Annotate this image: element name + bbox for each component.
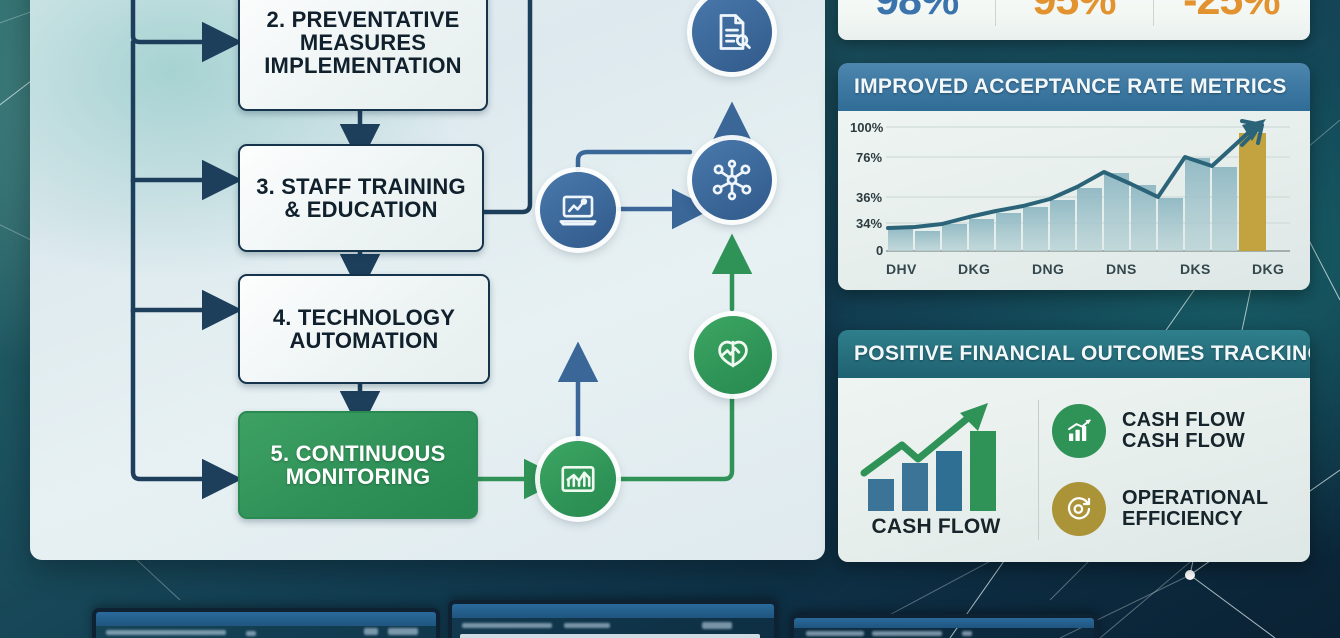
network-nodes-icon xyxy=(709,157,755,203)
financial-legend: CASH FLOW CASH FLOW xyxy=(1034,404,1310,536)
flow-box-line: IMPLEMENTATION xyxy=(264,54,462,77)
x-tick-label: DKS xyxy=(1180,261,1211,277)
y-tick-label: 76% xyxy=(856,150,882,165)
legend-icon-wrap xyxy=(1052,482,1106,536)
flow-box-line: 3. STAFF TRAINING xyxy=(256,175,466,198)
acceptance-rate-card: IMPROVED ACCEPTANCE RATE METRICS xyxy=(838,63,1310,290)
node-growth-leaf[interactable] xyxy=(694,316,772,394)
monitor-right[interactable] xyxy=(790,614,1098,638)
kpi-value: -25% xyxy=(1153,0,1310,22)
monitor-screen xyxy=(96,626,436,638)
x-tick-label: DKG xyxy=(958,261,990,277)
flow-box-line: MONITORING xyxy=(271,465,446,488)
x-tick-label: DHV xyxy=(886,261,917,277)
growth-leaf-icon xyxy=(711,333,755,377)
legend-item-cash-flow[interactable]: CASH FLOW CASH FLOW xyxy=(1052,404,1310,458)
x-tick-label: DKG xyxy=(1252,261,1284,277)
laptop-analytics-icon xyxy=(557,189,599,231)
card-header: POSITIVE FINANCIAL OUTCOMES TRACKING xyxy=(838,330,1310,378)
monitor-titlebar xyxy=(96,612,436,626)
monitor-titlebar xyxy=(452,604,774,618)
card-header: IMPROVED ACCEPTANCE RATE METRICS xyxy=(838,63,1310,111)
flow-box-line: MEASURES xyxy=(264,31,462,54)
bar-chart-icon xyxy=(1064,416,1094,446)
legend-label-line: EFFICIENCY xyxy=(1122,509,1268,530)
node-laptop-analytics[interactable] xyxy=(540,172,616,248)
divider xyxy=(1038,400,1039,540)
kpi-value: 95% xyxy=(995,0,1152,22)
flow-box-line: & EDUCATION xyxy=(256,198,466,221)
cash-flow-label: CASH FLOW xyxy=(872,515,1001,539)
flow-box-continuous-monitoring[interactable]: 5. CONTINUOUS MONITORING xyxy=(238,411,478,519)
y-tick-label: 100% xyxy=(850,120,883,135)
flow-box-technology-automation[interactable]: 4. TECHNOLOGY AUTOMATION xyxy=(238,274,490,384)
infographic-canvas: 2. PREVENTATIVE MEASURES IMPLEMENTATION … xyxy=(0,0,1340,638)
financial-card-body: CASH FLOW xyxy=(838,378,1310,562)
kpi-stat: 98% xyxy=(838,0,995,40)
monitor-screen xyxy=(452,618,774,638)
legend-item-operational-efficiency[interactable]: OPERATIONAL EFFICIENCY xyxy=(1052,482,1310,536)
flow-box-line: 2. PREVENTATIVE xyxy=(264,8,462,31)
gear-refresh-icon xyxy=(1064,494,1094,524)
kpi-stat: 95% xyxy=(995,0,1152,40)
flow-box-line: 4. TECHNOLOGY xyxy=(273,306,455,329)
cash-flow-chart: CASH FLOW xyxy=(838,378,1034,562)
y-tick-label: 0 xyxy=(876,243,883,258)
highlighted-bar xyxy=(1239,133,1266,251)
kpi-value: 98% xyxy=(838,0,995,22)
flow-box-preventative-measures[interactable]: 2. PREVENTATIVE MEASURES IMPLEMENTATION xyxy=(238,0,488,111)
monitor-left[interactable] xyxy=(92,608,440,638)
x-tick-label: DNS xyxy=(1106,261,1137,277)
financial-outcomes-card: POSITIVE FINANCIAL OUTCOMES TRACKING CAS… xyxy=(838,330,1310,562)
x-tick-label: DNG xyxy=(1032,261,1064,277)
legend-label-line: CASH FLOW xyxy=(1122,410,1245,431)
document-report-icon xyxy=(710,10,754,54)
acceptance-chart-body: 100% 76% 36% 34% 0 DHV DKG DNG DNS DKS D… xyxy=(838,111,1310,290)
legend-label-line: OPERATIONAL xyxy=(1122,488,1268,509)
cash-flow-bar-chart xyxy=(856,401,1016,513)
monitor-center[interactable] xyxy=(448,600,778,638)
node-network-nodes[interactable] xyxy=(692,140,772,220)
flow-box-line: 5. CONTINUOUS xyxy=(271,442,446,465)
card-title: POSITIVE FINANCIAL OUTCOMES TRACKING xyxy=(854,342,1310,366)
flow-box-staff-training[interactable]: 3. STAFF TRAINING & EDUCATION xyxy=(238,144,484,252)
flow-box-line: AUTOMATION xyxy=(273,329,455,352)
node-bar-chart[interactable] xyxy=(540,441,616,517)
card-title: IMPROVED ACCEPTANCE RATE METRICS xyxy=(854,75,1287,99)
process-flow-panel: 2. PREVENTATIVE MEASURES IMPLEMENTATION … xyxy=(30,0,825,560)
bar-chart-icon xyxy=(557,458,599,500)
kpi-stat-bar: 98% 95% -25% xyxy=(838,0,1310,40)
kpi-stat: -25% xyxy=(1153,0,1310,40)
legend-icon-wrap xyxy=(1052,404,1106,458)
monitor-titlebar xyxy=(794,618,1094,628)
legend-label-line: CASH FLOW xyxy=(1122,431,1245,452)
legend-label: OPERATIONAL EFFICIENCY xyxy=(1122,488,1268,530)
monitor-screen xyxy=(794,628,1094,638)
y-tick-label: 36% xyxy=(856,190,882,205)
legend-label: CASH FLOW CASH FLOW xyxy=(1122,410,1245,452)
y-tick-label: 34% xyxy=(856,216,882,231)
